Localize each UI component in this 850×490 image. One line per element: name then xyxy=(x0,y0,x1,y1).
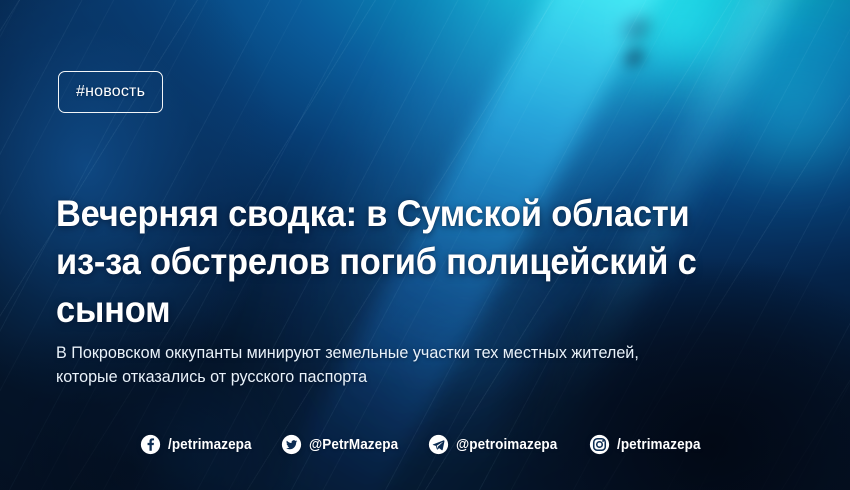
social-handle-instagram: /petrimazepa xyxy=(617,436,701,453)
social-link-twitter[interactable]: @PetrMazepa xyxy=(281,434,408,455)
subtitle: В Покровском оккупанты минируют земельны… xyxy=(56,341,721,389)
social-handle-facebook: /petrimazepa xyxy=(168,436,252,453)
telegram-icon xyxy=(428,434,449,455)
headline: Вечерняя сводка: в Сумской области из-за… xyxy=(56,190,744,334)
social-link-facebook[interactable]: /petrimazepa xyxy=(140,434,261,455)
news-card: #новость Вечерняя сводка: в Сумской обла… xyxy=(0,0,850,490)
facebook-icon xyxy=(140,434,161,455)
hashtag-badge[interactable]: #новость xyxy=(58,71,163,113)
subtitle-line-1: В Покровском оккупанты минируют земельны… xyxy=(56,343,639,362)
social-link-instagram[interactable]: /petrimazepa xyxy=(589,434,710,455)
hashtag-badge-label: #новость xyxy=(76,83,145,101)
social-handle-telegram: @petroimazepa xyxy=(456,436,557,453)
headline-line-2: из-за обстрелов погиб полицейский с сыно… xyxy=(56,238,744,334)
social-bar: /petrimazepa @PetrMazepa @petroimazepa xyxy=(0,434,850,455)
twitter-icon xyxy=(281,434,302,455)
subtitle-line-2: которые отказались от русского паспорта xyxy=(56,365,721,389)
card-content: #новость Вечерняя сводка: в Сумской обла… xyxy=(0,0,850,490)
instagram-icon xyxy=(589,434,610,455)
social-handle-twitter: @PetrMazepa xyxy=(309,436,398,453)
headline-line-1: Вечерняя сводка: в Сумской области xyxy=(56,193,690,234)
social-link-telegram[interactable]: @petroimazepa xyxy=(428,434,569,455)
